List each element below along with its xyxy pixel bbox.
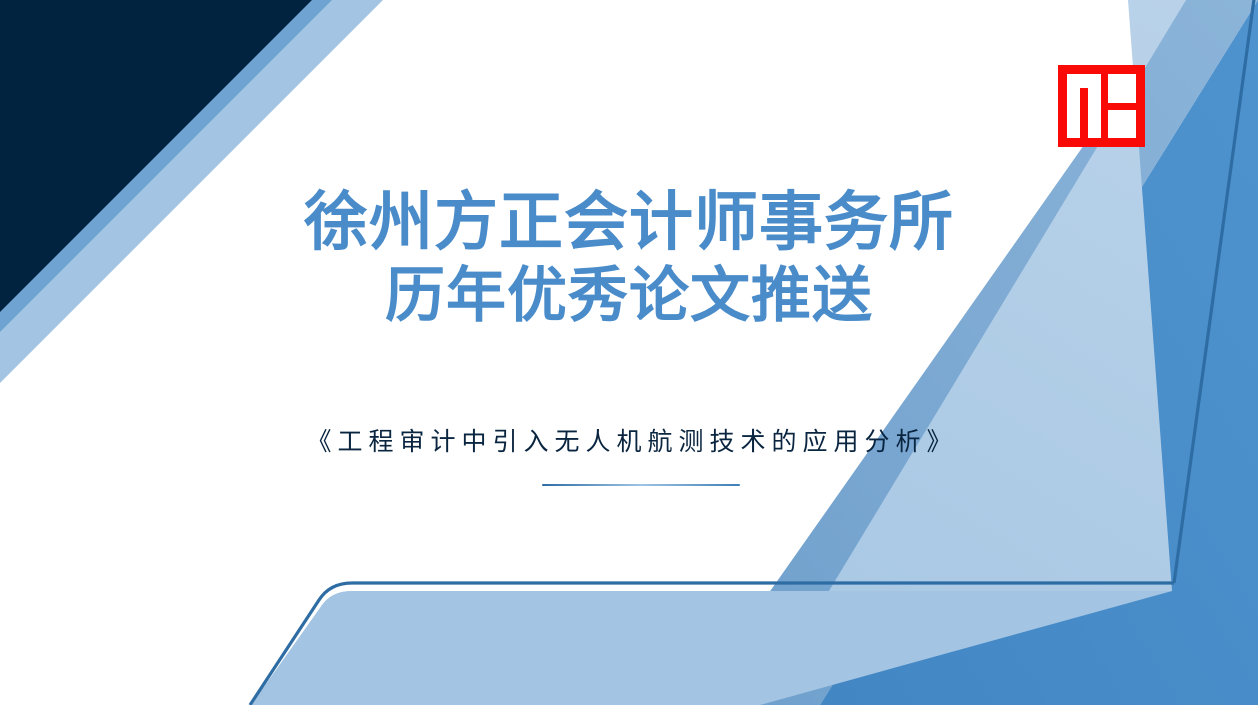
- panel-white-gap: [241, 0, 1124, 705]
- bottom-right-mid-wedge: [690, 0, 1258, 705]
- logo-right-top-white-block: [1108, 74, 1136, 103]
- panel-outline-stroke: [238, 0, 1170, 705]
- title-block: 徐州方正会计师事务所 历年优秀论文推送: [0, 186, 1258, 332]
- bottom-right-light-panel: [30, 0, 1186, 705]
- paper-title-subtitle: 《工程审计中引入无人机航测技术的应用分析》: [300, 427, 957, 456]
- panel-outline-top: [239, 0, 1172, 705]
- panel-border-diagonal-left: [250, 600, 319, 705]
- logo-right-bottom-white-block: [1108, 110, 1136, 138]
- title-line-secondary: 历年优秀论文推送: [0, 260, 1258, 332]
- logo-left-red-stem: [1080, 88, 1088, 138]
- title-divider-rule: [542, 484, 740, 486]
- title-line-primary: 徐州方正会计师事务所: [0, 186, 1258, 260]
- company-logo-mark: [1058, 65, 1145, 147]
- panel-border-corner: [319, 583, 352, 600]
- bottom-right-panel-body: [256, 591, 1172, 705]
- subtitle-block: 《工程审计中引入无人机航测技术的应用分析》: [0, 425, 1258, 459]
- bottom-right-dark-wedge: [820, 0, 1258, 705]
- presentation-slide: 徐州方正会计师事务所 历年优秀论文推送 《工程审计中引入无人机航测技术的应用分析…: [0, 0, 1258, 705]
